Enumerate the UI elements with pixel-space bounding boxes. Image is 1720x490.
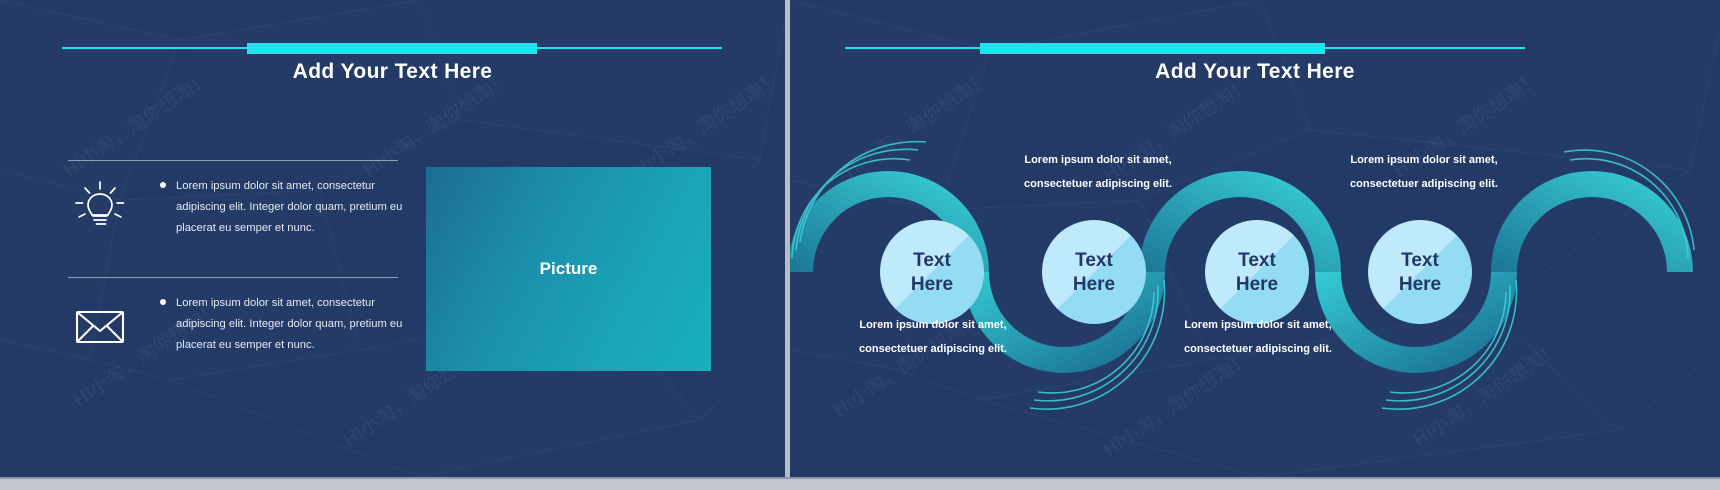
caption-2-line2: consectetuer adipiscing elit. (967, 172, 1229, 196)
slide-deck-screenshot: Hi小淘，淘你想淘！ Hi小淘，淘你想淘！ Hi小淘，淘你想淘！ Hi小淘，淘你… (0, 0, 1720, 490)
caption-3-line1: Lorem ipsum dolor sit amet, (1127, 313, 1389, 337)
node-circle-1 (880, 220, 984, 324)
caption-3: Lorem ipsum dolor sit amet, consectetuer… (1127, 313, 1389, 361)
process-wave-diagram: Text Here Text Here Text Here Text Here (790, 0, 1720, 477)
bottom-bar-line (0, 477, 1720, 479)
node-3-line2: Here (1236, 274, 1278, 295)
caption-1: Lorem ipsum dolor sit amet, consectetuer… (802, 313, 1064, 361)
node-1-line1: Text (913, 250, 951, 271)
header-left: Add Your Text Here (0, 40, 785, 96)
picture-label: Picture (426, 259, 711, 279)
bullet-marker (160, 299, 166, 305)
caption-1-line2: consectetuer adipiscing elit. (802, 337, 1064, 361)
page-title: Add Your Text Here (0, 60, 785, 84)
picture-placeholder[interactable]: Picture (426, 167, 711, 371)
envelope-icon (71, 297, 129, 355)
caption-4: Lorem ipsum dolor sit amet, consectetuer… (1293, 148, 1555, 196)
content-row-2-text: Lorem ipsum dolor sit amet, consectetur … (176, 293, 404, 356)
node-2-line1: Text (1075, 250, 1113, 271)
bottom-bar (0, 477, 1720, 490)
node-circle-2 (1042, 220, 1146, 324)
caption-1-line1: Lorem ipsum dolor sit amet, (802, 313, 1064, 337)
slide-right[interactable]: Hi小淘，淘你想淘！ Hi小淘，淘你想淘！ Hi小淘，淘你想淘！ Hi小淘，淘你… (790, 0, 1720, 477)
caption-2-line1: Lorem ipsum dolor sit amet, (967, 148, 1229, 172)
content-row-1-text: Lorem ipsum dolor sit amet, consectetur … (176, 176, 404, 239)
divider (68, 160, 398, 161)
bullet-marker (160, 182, 166, 188)
lightbulb-icon (71, 178, 129, 236)
node-circle-3 (1205, 220, 1309, 324)
node-3-line1: Text (1238, 250, 1276, 271)
node-4-line1: Text (1401, 250, 1439, 271)
node-4-line2: Here (1399, 274, 1441, 295)
content-row-2-body: Lorem ipsum dolor sit amet, consectetur … (176, 293, 404, 356)
caption-3-line2: consectetuer adipiscing elit. (1127, 337, 1389, 361)
caption-4-line1: Lorem ipsum dolor sit amet, (1293, 148, 1555, 172)
header-accent-bar (247, 43, 537, 54)
node-circle-4 (1368, 220, 1472, 324)
node-2-line2: Here (1073, 274, 1115, 295)
caption-4-line2: consectetuer adipiscing elit. (1293, 172, 1555, 196)
caption-2: Lorem ipsum dolor sit amet, consectetuer… (967, 148, 1229, 196)
slide-left[interactable]: Hi小淘，淘你想淘！ Hi小淘，淘你想淘！ Hi小淘，淘你想淘！ Hi小淘，淘你… (0, 0, 785, 477)
content-row-1-body: Lorem ipsum dolor sit amet, consectetur … (176, 176, 404, 239)
divider (68, 277, 398, 278)
node-1-line2: Here (911, 274, 953, 295)
